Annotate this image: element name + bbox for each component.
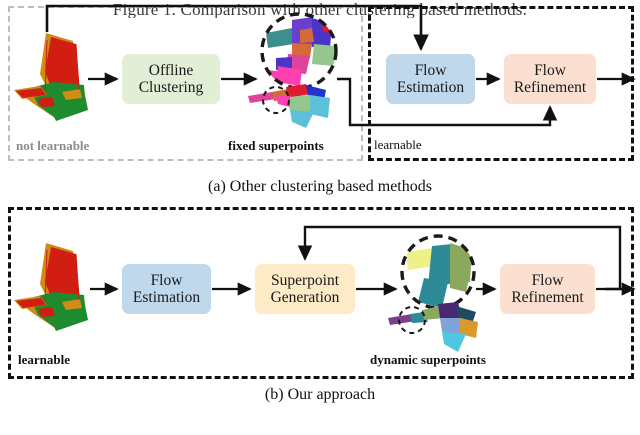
box-flow-estimation-b-line2: Estimation (133, 289, 200, 306)
box-superpoint-generation-line2: Generation (271, 289, 340, 306)
label-fixed-superpoints: fixed superpoints (228, 138, 324, 154)
box-offline-clustering-line2: Clustering (139, 79, 204, 96)
label-learnable-panel-a: learnable (374, 137, 422, 153)
caption-panel-b: (b) Our approach (0, 386, 640, 404)
box-offline-clustering-line1: Offline (149, 62, 193, 79)
box-flow-estimation-a[interactable]: Flow Estimation (386, 54, 475, 104)
box-flow-refinement-a-line2: Refinement (514, 79, 586, 96)
box-flow-refinement-b-line2: Refinement (511, 289, 583, 306)
box-flow-refinement-b[interactable]: Flow Refinement (500, 264, 595, 314)
box-flow-estimation-a-line1: Flow (415, 62, 447, 79)
label-learnable-panel-b: learnable (18, 352, 70, 368)
figure-root: Offline Clustering Flow Estimation Flow … (0, 0, 640, 435)
box-flow-estimation-b[interactable]: Flow Estimation (122, 264, 211, 314)
box-superpoint-generation[interactable]: Superpoint Generation (255, 264, 355, 314)
box-flow-refinement-a[interactable]: Flow Refinement (504, 54, 596, 104)
caption-panel-a: (a) Other clustering based methods (0, 178, 640, 196)
box-flow-estimation-b-line1: Flow (151, 272, 183, 289)
label-not-learnable: not learnable (16, 138, 89, 154)
box-flow-refinement-b-line1: Flow (532, 272, 564, 289)
box-flow-estimation-a-line2: Estimation (397, 79, 464, 96)
box-flow-refinement-a-line1: Flow (534, 62, 566, 79)
box-offline-clustering[interactable]: Offline Clustering (122, 54, 220, 104)
label-dynamic-superpoints: dynamic superpoints (370, 352, 486, 368)
box-superpoint-generation-line1: Superpoint (271, 272, 339, 289)
